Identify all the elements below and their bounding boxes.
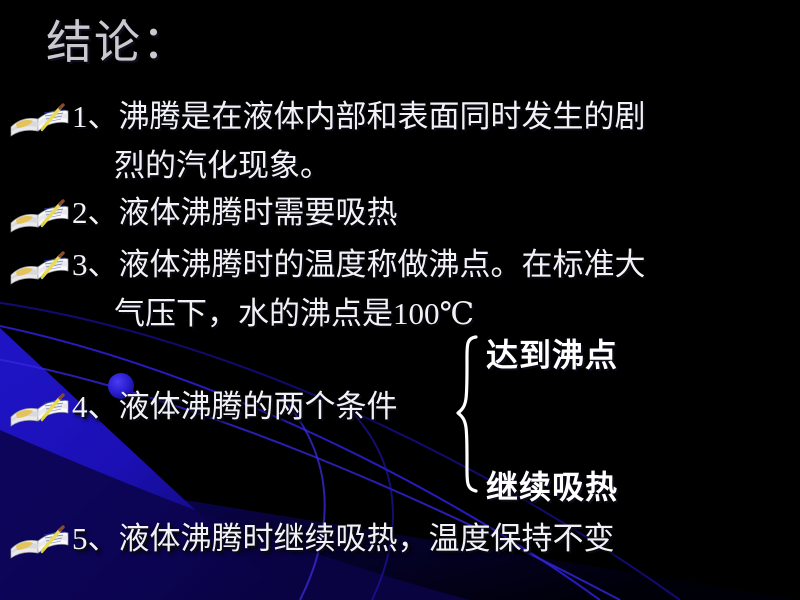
slide-canvas: 结论： 1、沸腾是在液体内部和 [0, 0, 800, 600]
list-item-label: 2、液体沸腾时需要吸热 [72, 188, 398, 237]
list-item: 4、液体沸腾的两个条件 [8, 382, 398, 431]
decoration-arc-5 [352, 412, 393, 600]
list-item: 3、液体沸腾时的温度称做沸点。在标准大气压下，水的沸点是100℃ [8, 240, 646, 338]
brace-label-top: 达到沸点 [486, 330, 618, 376]
list-item-label: 3、液体沸腾时的温度称做沸点。在标准大气压下，水的沸点是100℃ [72, 240, 646, 338]
open-book-with-pencil-icon [8, 96, 72, 140]
open-book-with-pencil-icon [8, 386, 72, 430]
page-title: 结论： [46, 18, 190, 69]
list-item: 1、沸腾是在液体内部和表面同时发生的剧烈的汽化现象。 [8, 92, 646, 190]
list-item-label: 4、液体沸腾的两个条件 [72, 382, 398, 431]
brace-group: 达到沸点 继续吸热 [452, 330, 682, 510]
list-item: 5、液体沸腾时继续吸热，温度保持不变 [8, 514, 615, 563]
list-item-label: 5、液体沸腾时继续吸热，温度保持不变 [72, 514, 615, 563]
open-book-with-pencil-icon [8, 518, 72, 562]
brace-label-bottom: 继续吸热 [486, 462, 618, 508]
list-item-label: 1、沸腾是在液体内部和表面同时发生的剧烈的汽化现象。 [72, 92, 646, 190]
left-curly-brace-icon [452, 334, 482, 494]
open-book-with-pencil-icon [8, 192, 72, 236]
open-book-with-pencil-icon [8, 244, 72, 288]
list-item: 2、液体沸腾时需要吸热 [8, 188, 398, 237]
